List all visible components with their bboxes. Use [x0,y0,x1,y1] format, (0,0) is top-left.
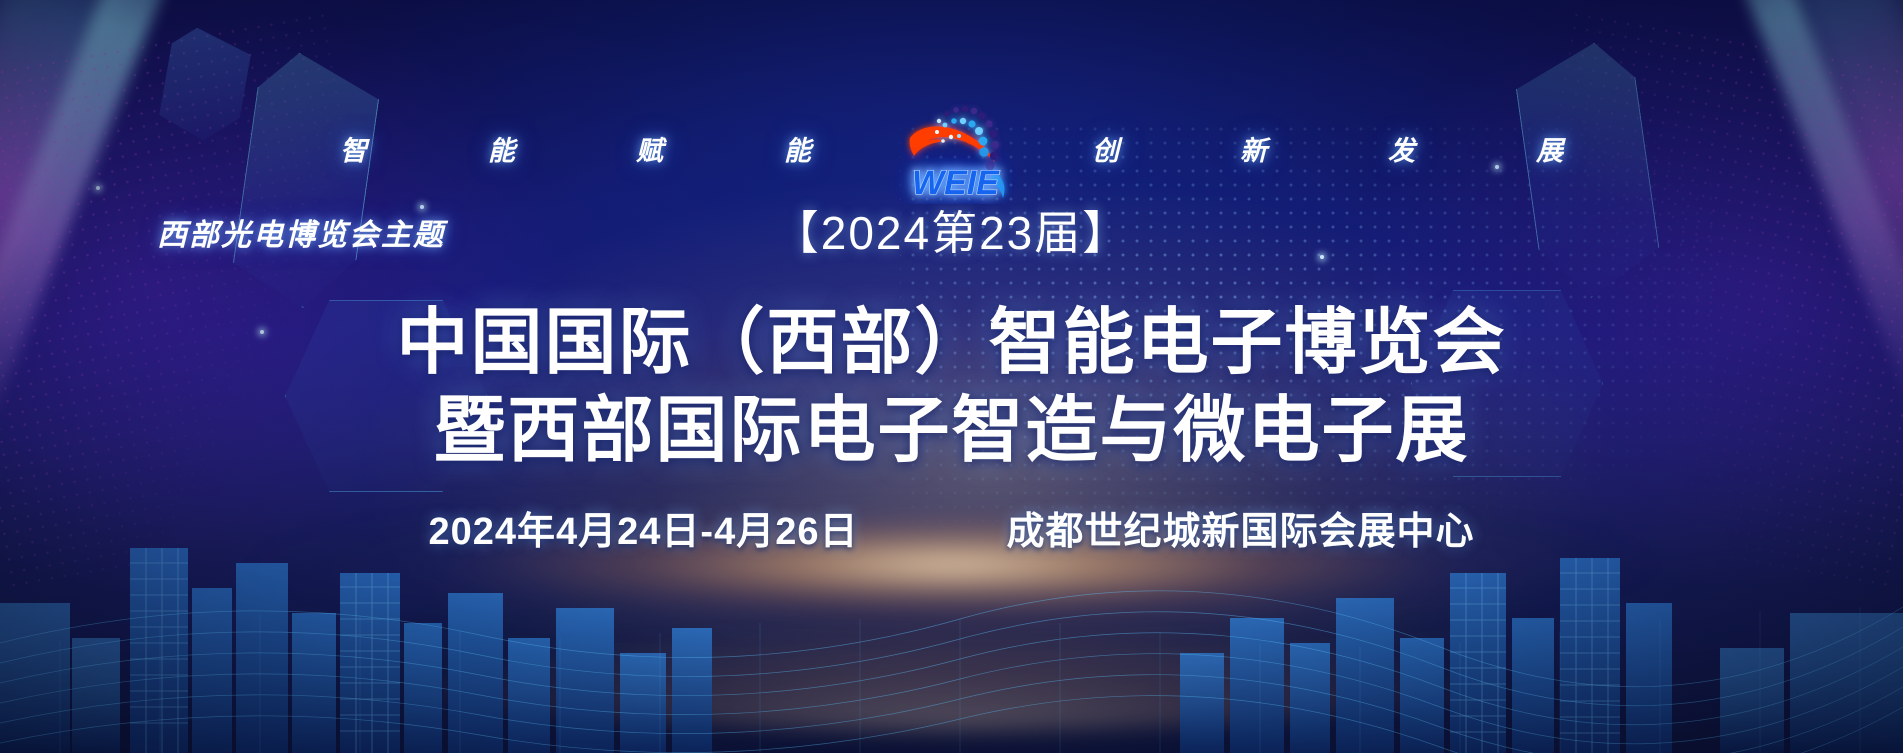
tagline-char-1: 能 [428,129,576,168]
weie-logo-svg: WEIE [877,96,1027,204]
tagline-char-6: 发 [1328,129,1476,168]
tagline-char-3: 能 [724,129,872,168]
tagline-row: 智 能 赋 能 [0,92,1903,204]
tagline-char-0: 智 [280,129,428,168]
tagline-char-4: 创 [1032,129,1180,168]
tagline-char-5: 新 [1180,129,1328,168]
event-title-line-2: 暨西部国际电子智造与微电子展 [0,371,1903,476]
edition-label: 【2024第23届】 [0,197,1903,263]
event-banner: 智 能 赋 能 [0,0,1903,753]
weie-logo: WEIE [872,92,1032,204]
tagline-char-2: 赋 [576,129,724,168]
weie-logo-graphic: WEIE [877,96,1027,204]
banner-content: 智 能 赋 能 [0,0,1903,753]
tagline-char-7: 展 [1476,129,1624,168]
event-date: 2024年4月24日-4月26日 [428,500,858,555]
event-footer: 2024年4月24日-4月26日 成都世纪城新国际会展中心 [0,500,1903,555]
event-venue: 成都世纪城新国际会展中心 [1006,500,1474,555]
